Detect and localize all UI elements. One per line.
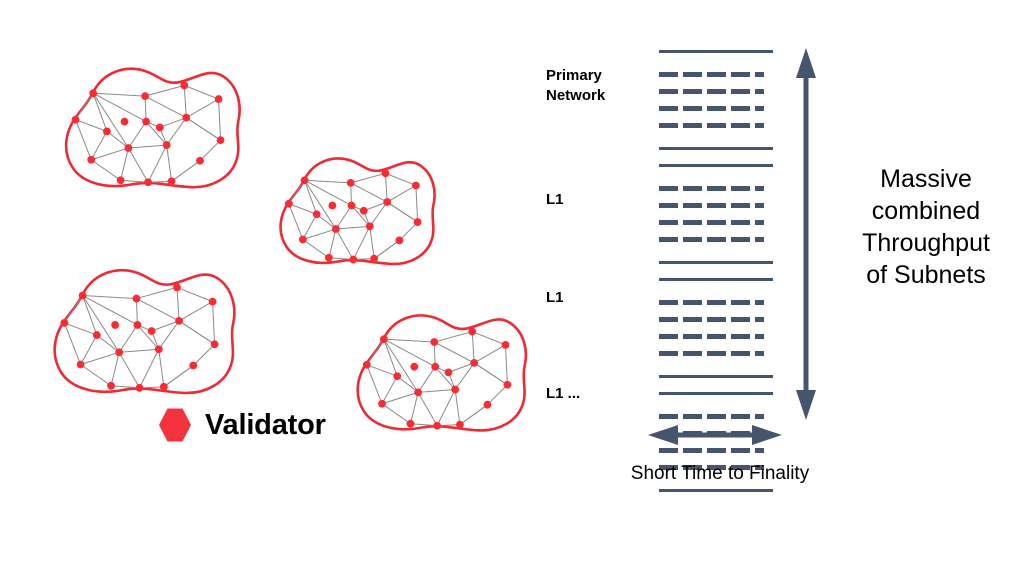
block-dash: [731, 203, 750, 208]
block-dash: [659, 300, 678, 305]
block-dash: [683, 300, 702, 305]
block-dash: [659, 203, 678, 208]
block-dash-row: [659, 83, 773, 100]
block-dash-partial: [755, 317, 764, 322]
block-dash-row: [659, 100, 773, 117]
block-dash: [659, 317, 678, 322]
block-dash-partial: [755, 203, 764, 208]
block-dash: [731, 448, 750, 453]
block-dash: [731, 317, 750, 322]
block-dash: [683, 186, 702, 191]
block-dash: [707, 220, 726, 225]
block-dash: [659, 448, 678, 453]
double-arrow-vertical-icon: [795, 48, 817, 420]
block-dash: [707, 123, 726, 128]
block-dash: [731, 414, 750, 419]
block-dash: [731, 220, 750, 225]
block-dash: [683, 351, 702, 356]
block-dash: [707, 448, 726, 453]
block-dash: [683, 220, 702, 225]
block-dash: [707, 300, 726, 305]
block-dash-row: [659, 328, 773, 345]
block-dash-row: [659, 231, 773, 248]
block-dash-row: [659, 180, 773, 197]
block-dash: [659, 334, 678, 339]
block-dash-partial: [755, 106, 764, 111]
block-dash-partial: [755, 414, 764, 419]
block-group-bottom-rule: [659, 261, 773, 264]
block-dash: [683, 237, 702, 242]
subnet-blob-2: [268, 148, 442, 270]
validator-legend: Validator: [158, 407, 326, 443]
block-dash: [659, 351, 678, 356]
block-dash: [707, 186, 726, 191]
subnet-blob-4: [344, 304, 534, 437]
block-group-primary-network: [659, 50, 773, 150]
block-dash-partial: [755, 89, 764, 94]
block-group-l1-a: [659, 164, 773, 264]
block-dash-row: [659, 66, 773, 83]
block-dash: [731, 351, 750, 356]
diagram-canvas: Validator Primary NetworkL1L1L1 ... Mass…: [0, 0, 1020, 571]
block-group-bottom-rule: [659, 489, 773, 492]
subnet-blob-3: [40, 258, 243, 400]
block-dash-partial: [755, 220, 764, 225]
validator-legend-label: Validator: [205, 409, 326, 442]
block-dash-partial: [755, 351, 764, 356]
block-dash: [683, 448, 702, 453]
block-dash: [659, 106, 678, 111]
block-dash: [731, 89, 750, 94]
block-dash: [707, 72, 726, 77]
block-dash: [707, 106, 726, 111]
subnet-blob-1: [52, 57, 248, 194]
block-group-l1-b: [659, 278, 773, 378]
block-dash: [731, 334, 750, 339]
hexagon-icon: [158, 407, 192, 443]
block-dash: [683, 414, 702, 419]
tier-label-l1-b: L1: [546, 288, 564, 308]
block-dash: [707, 203, 726, 208]
block-dash: [707, 89, 726, 94]
block-dash: [731, 106, 750, 111]
block-dash-partial: [755, 123, 764, 128]
block-group-bottom-rule: [659, 147, 773, 150]
block-dash-partial: [755, 186, 764, 191]
block-dash: [731, 123, 750, 128]
block-dash: [659, 186, 678, 191]
block-dash: [707, 334, 726, 339]
block-dash-partial: [755, 448, 764, 453]
block-dash-partial: [755, 300, 764, 305]
block-dash: [683, 203, 702, 208]
block-dash: [707, 351, 726, 356]
block-dash-row: [659, 197, 773, 214]
block-dash-row: [659, 214, 773, 231]
tier-label-l1-a: L1: [546, 190, 564, 210]
block-dash: [683, 123, 702, 128]
block-dash-partial: [755, 334, 764, 339]
tier-label-l1-more: L1 ...: [546, 384, 580, 404]
block-dash-row: [659, 294, 773, 311]
block-dash: [683, 317, 702, 322]
block-group-bottom-rule: [659, 375, 773, 378]
block-dash: [659, 220, 678, 225]
block-dash-row: [659, 345, 773, 362]
block-dash: [707, 414, 726, 419]
block-dash-partial: [755, 72, 764, 77]
block-dash: [731, 72, 750, 77]
block-dash: [683, 72, 702, 77]
finality-caption: Short Time to Finality: [600, 463, 840, 485]
block-dash: [683, 334, 702, 339]
block-dash: [731, 237, 750, 242]
block-dash: [707, 237, 726, 242]
block-dash: [659, 123, 678, 128]
double-arrow-horizontal-icon: [648, 424, 782, 446]
block-dash: [731, 186, 750, 191]
block-dash: [683, 106, 702, 111]
block-dash-row: [659, 311, 773, 328]
block-dash-partial: [755, 237, 764, 242]
block-dash: [707, 317, 726, 322]
tier-label-primary-network: Primary Network: [546, 66, 605, 106]
block-dash-row: [659, 408, 773, 425]
block-dash: [659, 72, 678, 77]
block-dash: [731, 300, 750, 305]
block-dash: [659, 414, 678, 419]
block-dash-row: [659, 117, 773, 134]
block-dash: [659, 237, 678, 242]
block-dash: [659, 89, 678, 94]
throughput-caption: Massive combined Throughput of Subnets: [836, 163, 1016, 291]
block-dash: [683, 89, 702, 94]
